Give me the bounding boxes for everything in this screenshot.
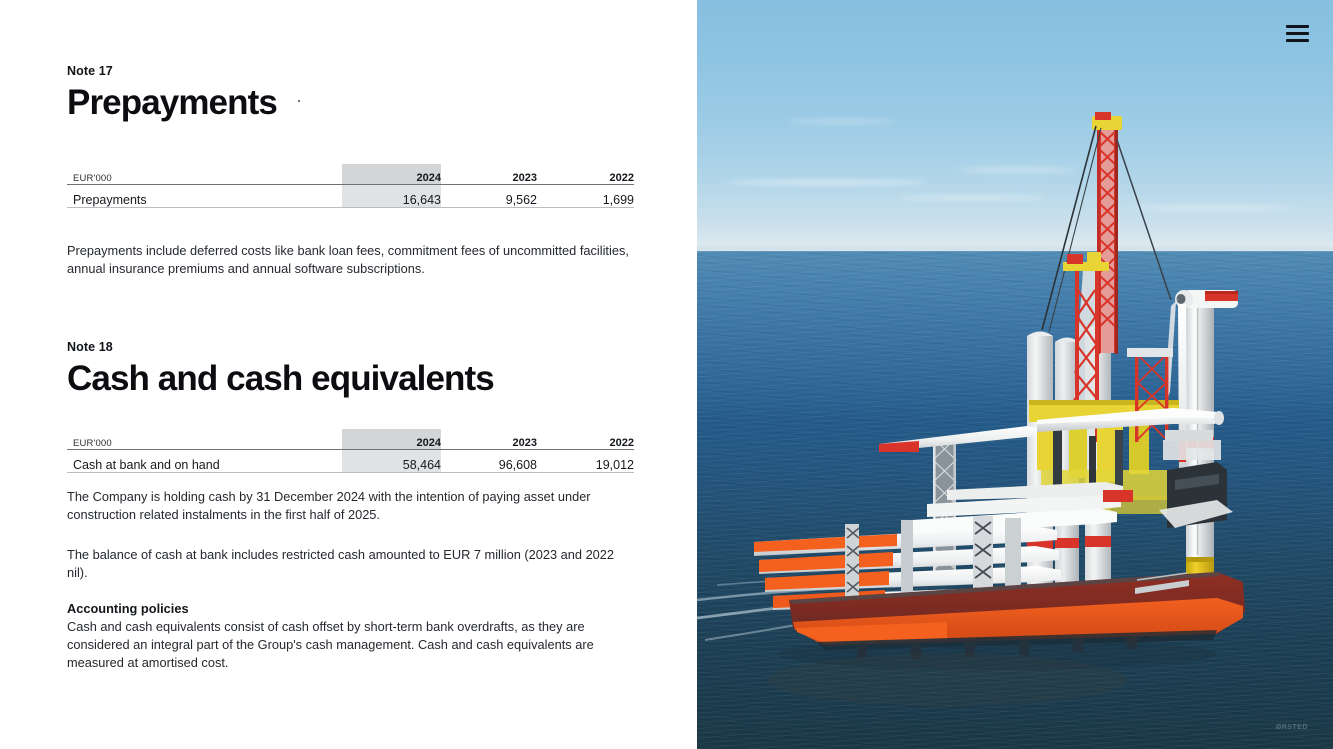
table-cell-2024: 16,643 [342, 184, 441, 207]
table-year-header-2024: 2024 [342, 164, 441, 184]
jack-up-installation-vessel [697, 112, 1245, 706]
table-year-header-2023: 2023 [441, 429, 537, 449]
table-unit-header: EUR'000 [67, 164, 342, 184]
note-18-paragraph-block-2: The balance of cash at bank includes res… [67, 546, 630, 582]
hamburger-bar-3 [1286, 39, 1309, 42]
table-header-row: EUR'000 2024 2023 2022 [67, 429, 634, 449]
note-17-label: Note 17 [67, 64, 277, 78]
note-17-paragraph-block: Prepayments include deferred costs like … [67, 242, 634, 278]
hamburger-bar-2 [1286, 32, 1309, 35]
document-pane: Note 17 Prepayments EUR'000 2024 [0, 0, 697, 749]
accounting-policies-block: Accounting policies Cash and cash equiva… [67, 600, 634, 673]
cash-equivalents-table: EUR'000 2024 2023 2022 Cash at bank and … [67, 429, 634, 473]
prepayments-table: EUR'000 2024 2023 2022 Prepayments 16,64… [67, 164, 634, 208]
accounting-policies-heading: Accounting policies [67, 600, 634, 618]
note-17-title-text: Prepayments [67, 83, 277, 122]
crane-boom [1042, 112, 1171, 354]
note-18-label: Note 18 [67, 340, 494, 354]
accounting-policies-text: Cash and cash equivalents consist of cas… [67, 618, 634, 672]
table-cell-2022: 19,012 [537, 449, 634, 472]
note-18-paragraph-2: The balance of cash at bank includes res… [67, 546, 630, 582]
table-row-label: Prepayments [67, 184, 342, 207]
table-cell-2022: 1,699 [537, 184, 634, 207]
table-year-header-2022: 2022 [537, 429, 634, 449]
note-17-table-wrapper: EUR'000 2024 2023 2022 Prepayments 16,64… [67, 164, 634, 208]
table-year-header-2022: 2022 [537, 164, 634, 184]
table-year-header-2024: 2024 [342, 429, 441, 449]
note-17-section: Note 17 Prepayments [67, 64, 277, 122]
note-18-paragraph-1: The Company is holding cash by 31 Decemb… [67, 488, 634, 524]
note-18-title: Cash and cash equivalents [67, 360, 494, 398]
table-cell-2024: 58,464 [342, 449, 441, 472]
table-cell-2023: 96,608 [441, 449, 537, 472]
offshore-wind-installation-scene [697, 0, 1333, 749]
hamburger-menu-icon[interactable] [1286, 25, 1309, 42]
table-row: Prepayments 16,643 9,562 1,699 [67, 184, 634, 207]
table-cell-2023: 9,562 [441, 184, 537, 207]
table-row-label: Cash at bank and on hand [67, 449, 342, 472]
table-header-row: EUR'000 2024 2023 2022 [67, 164, 634, 184]
table-row: Cash at bank and on hand 58,464 96,608 1… [67, 449, 634, 472]
page-root: Note 17 Prepayments EUR'000 2024 [0, 0, 1333, 749]
note-17-paragraph: Prepayments include deferred costs like … [67, 242, 634, 278]
title-speck-dot [298, 100, 300, 102]
photo-watermark: ØRSTED [1276, 724, 1308, 731]
hamburger-bar-1 [1286, 25, 1309, 28]
note-18-section: Note 18 Cash and cash equivalents [67, 340, 494, 398]
note-17-title: Prepayments [67, 84, 277, 122]
hero-photograph: ØRSTED [697, 0, 1333, 749]
note-18-table-wrapper: EUR'000 2024 2023 2022 Cash at bank and … [67, 429, 634, 473]
blade-boom-extending-left [879, 426, 1037, 452]
table-year-header-2023: 2023 [441, 164, 537, 184]
table-unit-header: EUR'000 [67, 429, 342, 449]
note-18-paragraph-block-1: The Company is holding cash by 31 Decemb… [67, 488, 634, 524]
